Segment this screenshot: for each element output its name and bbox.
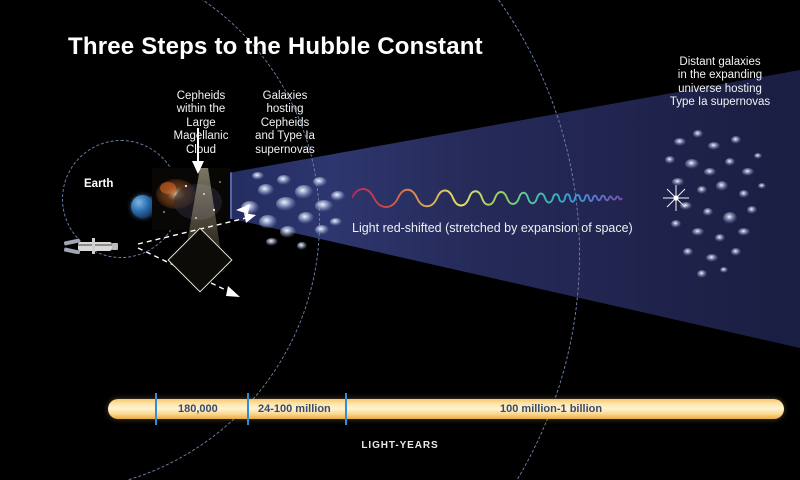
label-step2-line1: Galaxies bbox=[245, 90, 325, 103]
scale-tick-3 bbox=[345, 393, 347, 425]
label-step1-line1: Cepheids bbox=[160, 90, 242, 103]
label-step2: Galaxies hosting Cepheids and Type Ia su… bbox=[245, 90, 325, 157]
scale-label-1: 180,000 bbox=[178, 403, 218, 415]
label-step2-line4: and Type Ia bbox=[245, 130, 325, 143]
redshift-caption: Light red-shifted (stretched by expansio… bbox=[352, 221, 633, 235]
page-title: Three Steps to the Hubble Constant bbox=[68, 33, 483, 61]
label-step1-line4: Magellanic bbox=[160, 130, 242, 143]
label-step3-line1: Distant galaxies bbox=[645, 56, 795, 69]
earth-label: Earth bbox=[84, 178, 113, 190]
infographic-canvas: Earth bbox=[0, 0, 800, 480]
label-step1-line2: within the bbox=[160, 103, 242, 116]
scale-label-3: 100 million-1 billion bbox=[500, 403, 602, 415]
label-step3-line3: universe hosting bbox=[645, 83, 795, 96]
distant-galaxies-image bbox=[652, 120, 800, 290]
redshift-wave-icon bbox=[352, 176, 652, 218]
cluster-pointer-arrow bbox=[226, 198, 256, 220]
label-step1-line5: Cloud bbox=[160, 144, 242, 157]
scale-tick-1 bbox=[155, 393, 157, 425]
scale-unit-caption: LIGHT-YEARS bbox=[0, 440, 800, 451]
label-step2-line5: supernovas bbox=[245, 144, 325, 157]
label-step2-line2: hosting bbox=[245, 103, 325, 116]
label-step3-line4: Type Ia supernovas bbox=[645, 96, 795, 109]
label-step3-line2: in the expanding bbox=[645, 69, 795, 82]
scale-label-2: 24-100 million bbox=[258, 403, 331, 415]
label-step3: Distant galaxies in the expanding univer… bbox=[645, 56, 795, 110]
scale-tick-2 bbox=[247, 393, 249, 425]
label-step1: Cepheids within the Large Magellanic Clo… bbox=[160, 90, 242, 157]
label-step2-line3: Cepheids bbox=[245, 117, 325, 130]
label-step1-line3: Large bbox=[160, 117, 242, 130]
